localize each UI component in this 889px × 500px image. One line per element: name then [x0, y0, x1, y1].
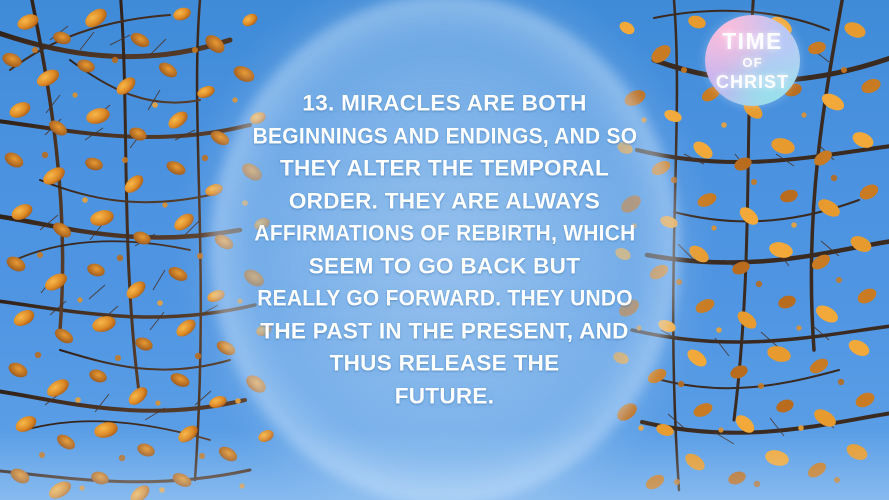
quote-line-4: ORDER. THEY ARE ALWAYS	[235, 185, 655, 218]
logo-line-time: TIME	[722, 30, 783, 53]
logo-line-christ: CHRIST	[716, 73, 789, 91]
quote-line-7: REALLY GO FORWARD. THEY UNDO	[249, 283, 640, 316]
quote-text: 13. MIRACLES ARE BOTH BEGINNINGS AND END…	[235, 88, 655, 413]
quote-line-2: BEGINNINGS AND ENDINGS, AND SO	[249, 120, 640, 153]
quote-line-3: THEY ALTER THE TEMPORAL	[235, 153, 655, 186]
quote-line-10: FUTURE.	[235, 380, 655, 413]
quote-line-6: SEEM TO GO BACK BUT	[235, 250, 655, 283]
quote-card-canvas: 13. MIRACLES ARE BOTH BEGINNINGS AND END…	[0, 0, 889, 500]
quote-line-9: THUS RELEASE THE	[235, 348, 655, 381]
quote-line-1: 13. MIRACLES ARE BOTH	[235, 88, 655, 121]
time-of-christ-logo[interactable]: TIME OF CHRIST	[705, 15, 800, 106]
quote-line-5: AFFIRMATIONS OF REBIRTH, WHICH	[249, 218, 640, 251]
logo-line-of: OF	[742, 56, 762, 69]
quote-line-8: THE PAST IN THE PRESENT, AND	[235, 315, 655, 348]
